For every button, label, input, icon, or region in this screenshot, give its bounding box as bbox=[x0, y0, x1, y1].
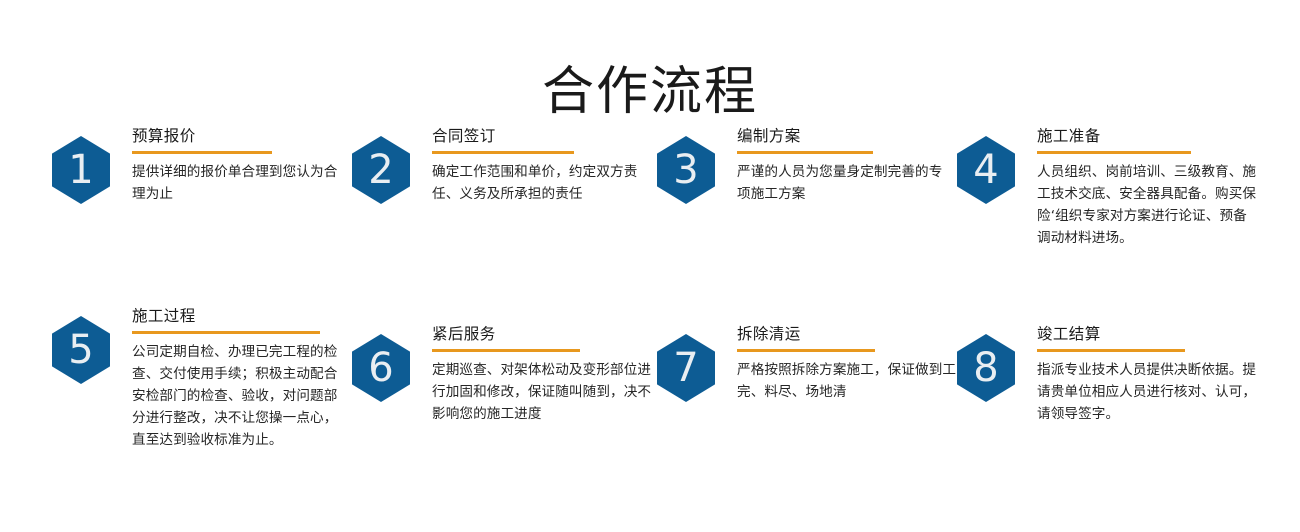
step-rule-1 bbox=[132, 151, 272, 154]
step-description-5: 公司定期自检、办理已完工程的检查、交付使用手续；积极主动配合安检部门的检查、验收… bbox=[132, 341, 342, 451]
step-body-1: 预算报价 提供详细的报价单合理到您认为合理为止 bbox=[132, 126, 342, 205]
step-body-5: 施工过程 公司定期自检、办理已完工程的检查、交付使用手续；积极主动配合安检部门的… bbox=[132, 306, 342, 451]
step-title-4: 施工准备 bbox=[1037, 126, 1257, 146]
step-rule-5 bbox=[132, 331, 320, 334]
step-title-6: 紧后服务 bbox=[432, 324, 652, 344]
step-title-7: 拆除清运 bbox=[737, 324, 957, 344]
step-description-2: 确定工作范围和单价，约定双方责任、义务及所承担的责任 bbox=[432, 161, 642, 205]
step-body-7: 拆除清运 严格按照拆除方案施工，保证做到工完、料尽、场地清 bbox=[737, 324, 957, 403]
step-description-8: 指派专业技术人员提供决断依据。提请贵单位相应人员进行核对、认可，请领导签字。 bbox=[1037, 359, 1267, 425]
step-rule-8 bbox=[1037, 349, 1185, 352]
step-body-8: 竣工结算 指派专业技术人员提供决断依据。提请贵单位相应人员进行核对、认可，请领导… bbox=[1037, 324, 1267, 425]
step-description-4: 人员组织、岗前培训、三级教育、施工技术交底、安全器具配备。购买保险‘组织专家对方… bbox=[1037, 161, 1257, 249]
step-rule-3 bbox=[737, 151, 873, 154]
step-item-7[interactable]: 7 拆除清运 严格按照拆除方案施工，保证做到工完、料尽、场地清 bbox=[657, 324, 957, 403]
step-rule-7 bbox=[737, 349, 875, 352]
step-body-3: 编制方案 严谨的人员为您量身定制完善的专项施工方案 bbox=[737, 126, 947, 205]
step-number-1: 1 bbox=[68, 150, 93, 190]
step-body-4: 施工准备 人员组织、岗前培训、三级教育、施工技术交底、安全器具配备。购买保险‘组… bbox=[1037, 126, 1257, 249]
step-number-hexagon-1: 1 bbox=[52, 136, 110, 204]
step-number-6: 6 bbox=[368, 348, 393, 388]
step-rule-4 bbox=[1037, 151, 1191, 154]
step-rule-2 bbox=[432, 151, 574, 154]
step-title-5: 施工过程 bbox=[132, 306, 342, 326]
step-number-4: 4 bbox=[973, 150, 998, 190]
steps-row-2: 5 施工过程 公司定期自检、办理已完工程的检查、交付使用手续；积极主动配合安检部… bbox=[0, 306, 1300, 506]
step-number-hexagon-3: 3 bbox=[657, 136, 715, 204]
step-number-hexagon-4: 4 bbox=[957, 136, 1015, 204]
step-body-2: 合同签订 确定工作范围和单价，约定双方责任、义务及所承担的责任 bbox=[432, 126, 642, 205]
step-item-5[interactable]: 5 施工过程 公司定期自检、办理已完工程的检查、交付使用手续；积极主动配合安检部… bbox=[52, 306, 342, 451]
step-title-1: 预算报价 bbox=[132, 126, 342, 146]
step-description-7: 严格按照拆除方案施工，保证做到工完、料尽、场地清 bbox=[737, 359, 957, 403]
step-number-7: 7 bbox=[673, 348, 698, 388]
step-number-hexagon-7: 7 bbox=[657, 334, 715, 402]
step-item-8[interactable]: 8 竣工结算 指派专业技术人员提供决断依据。提请贵单位相应人员进行核对、认可，请… bbox=[957, 324, 1267, 425]
step-rule-6 bbox=[432, 349, 580, 352]
step-number-hexagon-6: 6 bbox=[352, 334, 410, 402]
step-item-2[interactable]: 2 合同签订 确定工作范围和单价，约定双方责任、义务及所承担的责任 bbox=[352, 126, 642, 205]
step-title-2: 合同签订 bbox=[432, 126, 642, 146]
step-description-3: 严谨的人员为您量身定制完善的专项施工方案 bbox=[737, 161, 947, 205]
step-number-8: 8 bbox=[973, 348, 998, 388]
step-number-5: 5 bbox=[68, 330, 93, 370]
step-item-4[interactable]: 4 施工准备 人员组织、岗前培训、三级教育、施工技术交底、安全器具配备。购买保险… bbox=[957, 126, 1257, 249]
step-item-6[interactable]: 6 紧后服务 定期巡查、对架体松动及变形部位进行加固和修改，保证随叫随到，决不影… bbox=[352, 324, 652, 425]
steps-container: 1 预算报价 提供详细的报价单合理到您认为合理为止 2 合同签订 确定工作范围和… bbox=[0, 126, 1300, 506]
step-title-8: 竣工结算 bbox=[1037, 324, 1267, 344]
page-title: 合作流程 bbox=[0, 61, 1300, 123]
step-item-3[interactable]: 3 编制方案 严谨的人员为您量身定制完善的专项施工方案 bbox=[657, 126, 947, 205]
step-number-2: 2 bbox=[368, 150, 393, 190]
step-description-6: 定期巡查、对架体松动及变形部位进行加固和修改，保证随叫随到，决不影响您的施工进度 bbox=[432, 359, 652, 425]
steps-row-1: 1 预算报价 提供详细的报价单合理到您认为合理为止 2 合同签订 确定工作范围和… bbox=[0, 126, 1300, 306]
step-body-6: 紧后服务 定期巡查、对架体松动及变形部位进行加固和修改，保证随叫随到，决不影响您… bbox=[432, 324, 652, 425]
step-number-hexagon-2: 2 bbox=[352, 136, 410, 204]
step-description-1: 提供详细的报价单合理到您认为合理为止 bbox=[132, 161, 342, 205]
step-number-hexagon-5: 5 bbox=[52, 316, 110, 384]
process-infographic: 合作流程 1 预算报价 提供详细的报价单合理到您认为合理为止 2 合同签订 bbox=[0, 0, 1300, 532]
step-number-3: 3 bbox=[673, 150, 698, 190]
step-title-3: 编制方案 bbox=[737, 126, 947, 146]
step-number-hexagon-8: 8 bbox=[957, 334, 1015, 402]
step-item-1[interactable]: 1 预算报价 提供详细的报价单合理到您认为合理为止 bbox=[52, 126, 342, 205]
